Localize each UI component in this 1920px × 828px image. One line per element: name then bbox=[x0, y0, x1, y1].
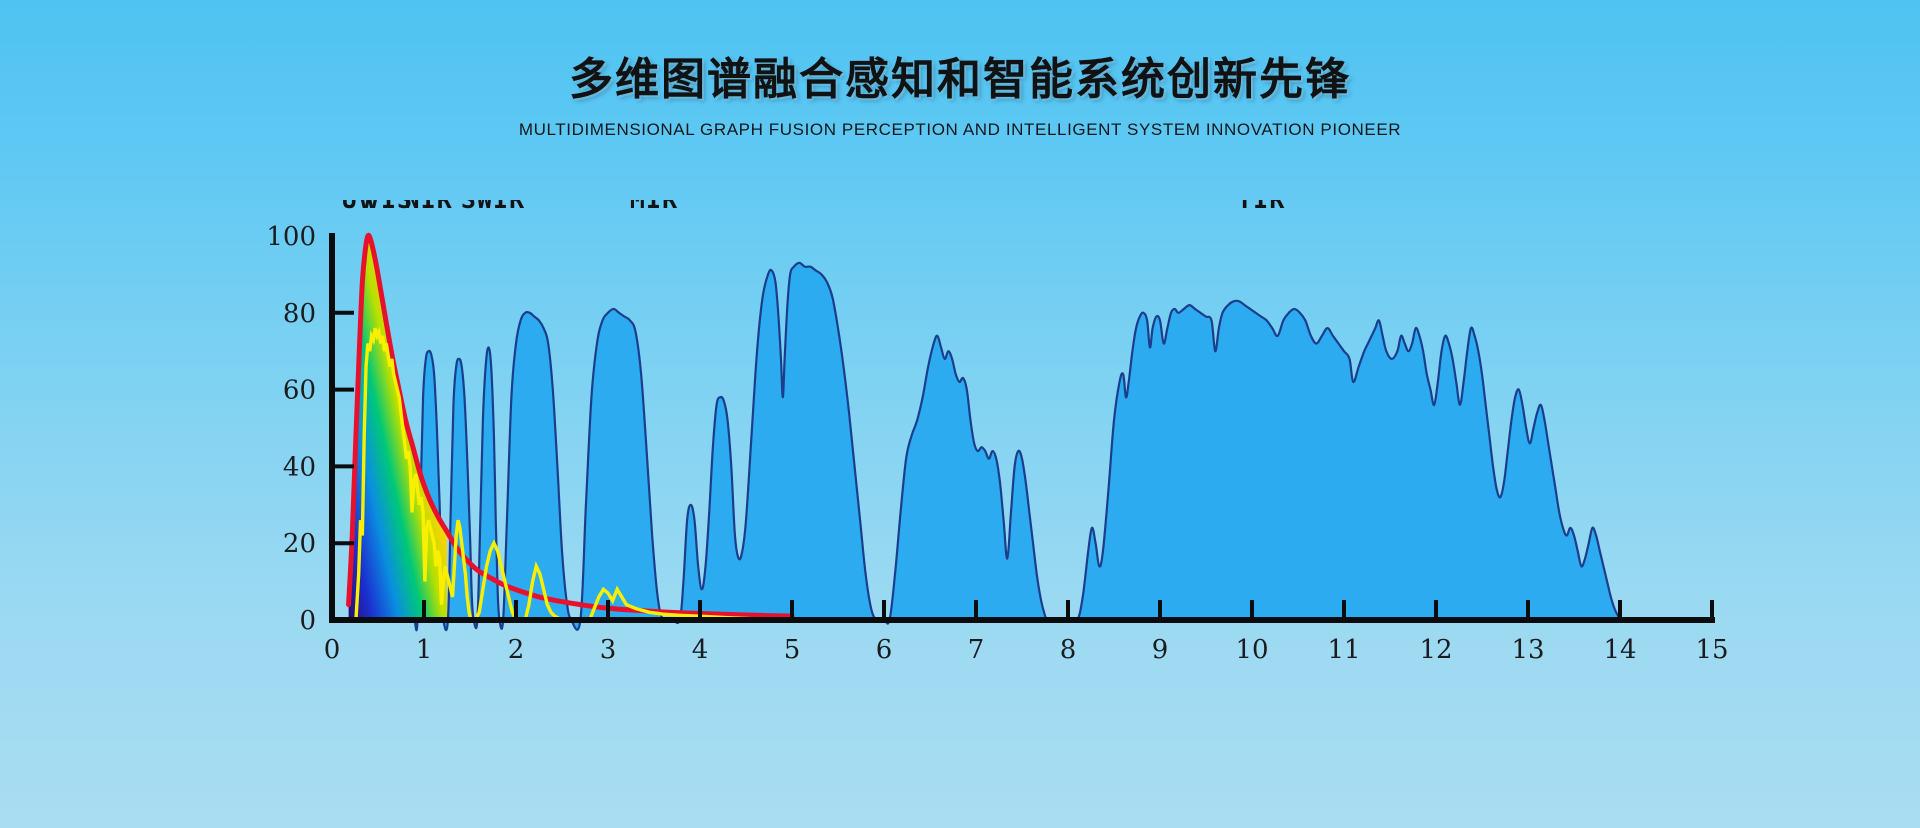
y-axis-ticks bbox=[332, 313, 354, 543]
page-subtitle: MULTIDIMENSIONAL GRAPH FUSION PERCEPTION… bbox=[0, 120, 1920, 140]
band-label-mir: MIR bbox=[630, 200, 678, 214]
y-axis-labels: 020406080100 bbox=[266, 222, 316, 636]
atmospheric-transmission-chart: 020406080100 0123456789101112131415 UVVI… bbox=[0, 200, 1920, 820]
x-axis-label: 15 bbox=[1695, 635, 1728, 665]
y-axis-label: 0 bbox=[299, 606, 316, 636]
banner-root: 多维图谱融合感知和智能系统创新先锋 MULTIDIMENSIONAL GRAPH… bbox=[0, 0, 1920, 828]
title-block: 多维图谱融合感知和智能系统创新先锋 MULTIDIMENSIONAL GRAPH… bbox=[0, 56, 1920, 140]
x-axis-label: 14 bbox=[1603, 635, 1636, 665]
x-axis-label: 12 bbox=[1419, 635, 1452, 665]
x-axis-label: 0 bbox=[324, 635, 341, 665]
y-axis-label: 20 bbox=[283, 529, 316, 559]
x-axis-labels: 0123456789101112131415 bbox=[324, 635, 1729, 665]
band-labels-group: UVVISNIRSWIRMIRTIR bbox=[342, 200, 1286, 214]
chart-series-layer bbox=[349, 235, 1620, 630]
x-axis-label: 9 bbox=[1152, 635, 1169, 665]
y-axis-label: 80 bbox=[283, 299, 316, 329]
x-axis-label: 4 bbox=[692, 635, 709, 665]
x-axis-label: 13 bbox=[1511, 635, 1544, 665]
x-axis-label: 8 bbox=[1060, 635, 1077, 665]
band-label-tir: TIR bbox=[1237, 200, 1285, 214]
x-axis-label: 7 bbox=[968, 635, 985, 665]
y-axis-label: 40 bbox=[283, 452, 316, 482]
band-label-nir: NIR bbox=[405, 200, 453, 214]
x-axis-label: 5 bbox=[784, 635, 801, 665]
x-axis-label: 11 bbox=[1327, 635, 1360, 665]
band-label-swir: SWIR bbox=[461, 200, 525, 214]
y-axis-label: 60 bbox=[283, 376, 316, 406]
x-axis-label: 2 bbox=[508, 635, 525, 665]
x-axis-label: 1 bbox=[416, 635, 433, 665]
y-axis-label: 100 bbox=[266, 222, 316, 252]
page-title: 多维图谱融合感知和智能系统创新先锋 bbox=[0, 56, 1920, 104]
x-axis-label: 3 bbox=[600, 635, 617, 665]
x-axis-label: 10 bbox=[1235, 635, 1268, 665]
spectrum-chart: 020406080100 0123456789101112131415 UVVI… bbox=[0, 200, 1920, 820]
x-axis-label: 6 bbox=[876, 635, 893, 665]
